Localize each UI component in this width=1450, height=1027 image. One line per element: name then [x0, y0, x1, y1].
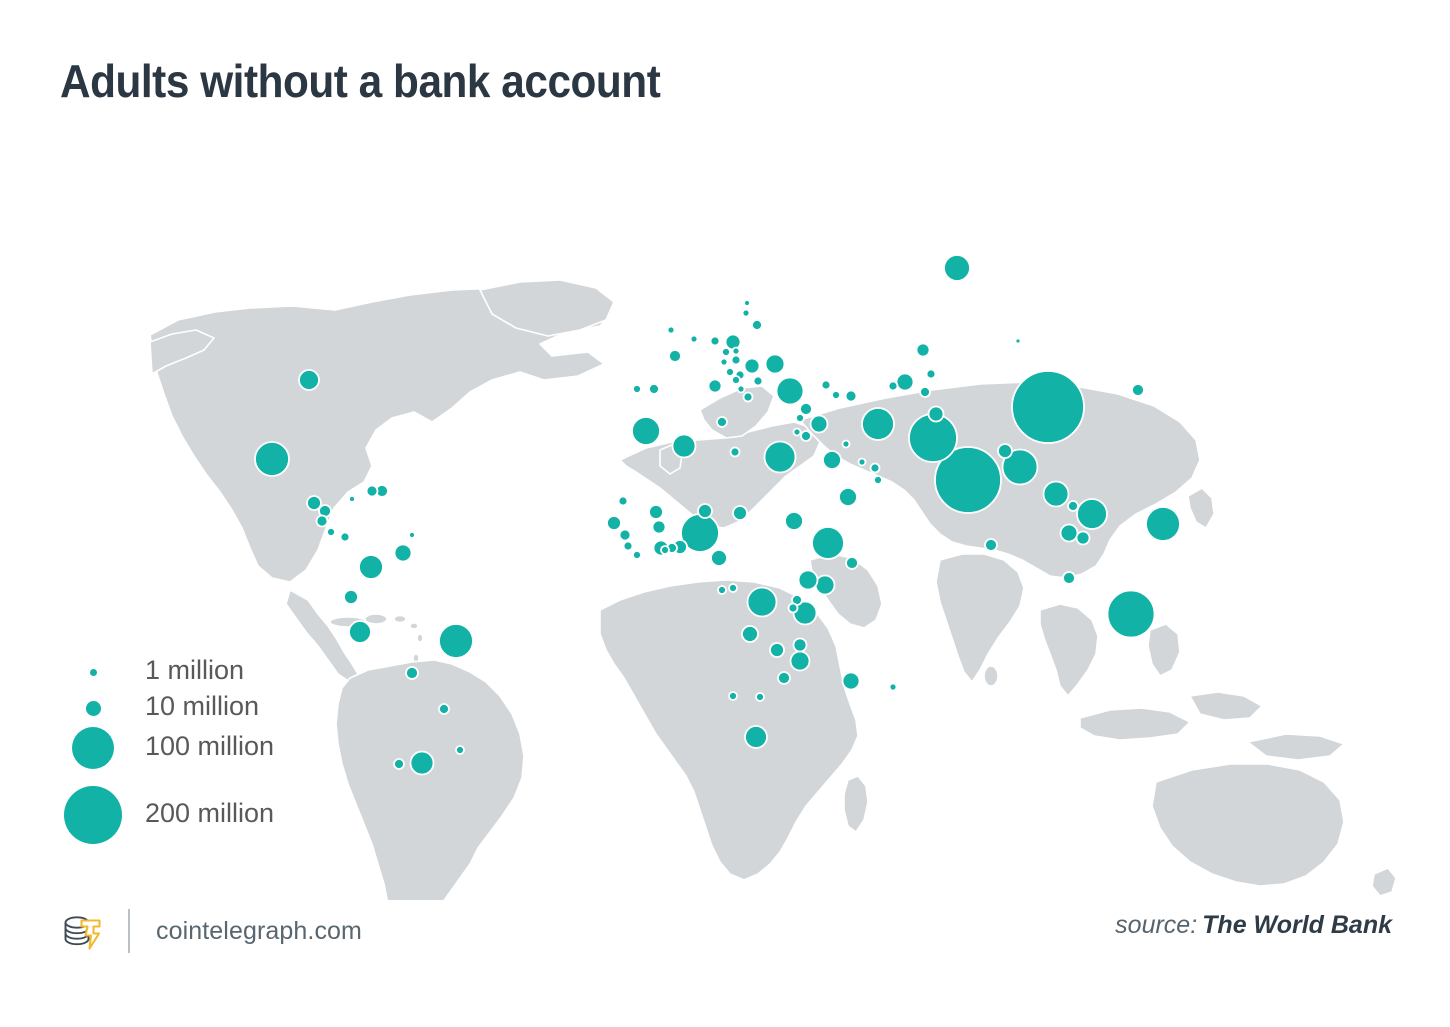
map-bubble[interactable] — [1068, 501, 1078, 511]
map-bubble[interactable] — [843, 673, 860, 690]
legend-bubble — [86, 701, 101, 716]
map-bubble[interactable] — [889, 382, 898, 391]
legend-label: 1 million — [145, 655, 244, 686]
map-bubble[interactable] — [1077, 532, 1090, 545]
map-bubble[interactable] — [785, 512, 803, 530]
map-bubble[interactable] — [733, 348, 740, 355]
map-bubble[interactable] — [998, 444, 1012, 458]
map-bubble[interactable] — [843, 441, 850, 448]
map-bubble[interactable] — [731, 448, 740, 457]
map-bubble[interactable] — [799, 571, 818, 590]
brand-block: cointelegraph.com — [58, 895, 362, 967]
map-bubble[interactable] — [439, 624, 473, 658]
map-bubble[interactable] — [811, 416, 828, 433]
map-bubble[interactable] — [738, 386, 745, 393]
map-bubble[interactable] — [871, 464, 880, 473]
map-bubble[interactable] — [733, 506, 747, 520]
map-bubble[interactable] — [729, 692, 737, 700]
map-bubble[interactable] — [1063, 572, 1075, 584]
legend-label: 200 million — [145, 798, 274, 829]
footer: cointelegraph.com source:The World Bank — [0, 895, 1450, 985]
map-bubble[interactable] — [917, 344, 930, 357]
map-bubble[interactable] — [778, 672, 790, 684]
map-bubble[interactable] — [846, 557, 858, 569]
map-bubble[interactable] — [897, 374, 914, 391]
map-bubble[interactable] — [832, 391, 840, 399]
cointelegraph-logo-icon — [58, 907, 106, 955]
map-bubble[interactable] — [632, 417, 660, 445]
map-bubble[interactable] — [732, 356, 741, 365]
map-bubble[interactable] — [822, 381, 831, 390]
map-bubble[interactable] — [367, 486, 378, 497]
map-bubble[interactable] — [744, 300, 750, 306]
map-bubble[interactable] — [721, 359, 728, 366]
map-bubble[interactable] — [344, 590, 358, 604]
map-bubble[interactable] — [859, 459, 866, 466]
map-bubble[interactable] — [661, 546, 669, 554]
map-bubble[interactable] — [669, 350, 681, 362]
map-bubble[interactable] — [729, 584, 737, 592]
map-bubble[interactable] — [327, 528, 335, 536]
map-bubble[interactable] — [717, 417, 727, 427]
map-bubble[interactable] — [722, 348, 730, 356]
map-bubble[interactable] — [691, 336, 698, 343]
source-attribution: source:The World Bank — [1115, 911, 1392, 940]
map-bubble[interactable] — [766, 355, 785, 374]
legend-label: 10 million — [145, 691, 259, 722]
map-bubble[interactable] — [1108, 591, 1155, 638]
map-bubble[interactable] — [770, 643, 784, 657]
map-bubble[interactable] — [1146, 507, 1180, 541]
map-bubble[interactable] — [796, 414, 804, 422]
map-bubble[interactable] — [927, 370, 936, 379]
map-bubble[interactable] — [1016, 339, 1021, 344]
map-bubble[interactable] — [794, 429, 801, 436]
legend-bubble — [90, 669, 97, 676]
map-bubble[interactable] — [789, 604, 798, 613]
map-bubble[interactable] — [349, 496, 355, 502]
map-bubble[interactable] — [862, 408, 894, 440]
map-bubble[interactable] — [765, 442, 796, 473]
source-value: The World Bank — [1202, 911, 1392, 939]
map-bubble[interactable] — [1061, 525, 1078, 542]
map-bubble[interactable] — [633, 551, 641, 559]
map-bubble[interactable] — [839, 488, 857, 506]
map-bubble[interactable] — [619, 497, 628, 506]
page-title: Adults without a bank account — [60, 52, 660, 110]
map-bubble[interactable] — [633, 385, 641, 393]
map-bubble[interactable] — [439, 704, 449, 714]
map-bubble[interactable] — [607, 516, 621, 530]
map-bubble[interactable] — [777, 378, 804, 405]
map-bubble[interactable] — [406, 667, 418, 679]
source-label: source: — [1115, 911, 1197, 939]
map-bubble[interactable] — [299, 370, 319, 390]
map-bubble[interactable] — [754, 377, 763, 386]
map-bubble[interactable] — [394, 759, 404, 769]
map-bubble[interactable] — [698, 504, 712, 518]
map-bubble[interactable] — [711, 550, 727, 566]
map-bubble[interactable] — [745, 359, 760, 374]
map-bubble[interactable] — [711, 337, 720, 346]
map-bubble[interactable] — [349, 621, 371, 643]
map-bubble[interactable] — [456, 746, 464, 754]
map-bubble[interactable] — [649, 505, 663, 519]
legend-bubble — [64, 786, 122, 844]
map-bubble[interactable] — [411, 752, 434, 775]
map-bubble[interactable] — [743, 310, 750, 317]
map-bubble[interactable] — [794, 639, 807, 652]
map-bubble[interactable] — [624, 542, 633, 551]
brand-url[interactable]: cointelegraph.com — [156, 917, 362, 946]
map-bubble[interactable] — [752, 320, 762, 330]
map-bubble[interactable] — [801, 431, 811, 441]
map-bubble[interactable] — [359, 555, 383, 579]
legend-label: 100 million — [145, 731, 274, 762]
map-bubble[interactable] — [1012, 371, 1084, 443]
map-bubble[interactable] — [409, 532, 415, 538]
map-bubble[interactable] — [874, 476, 882, 484]
map-bubble[interactable] — [732, 376, 740, 384]
map-bubble[interactable] — [745, 726, 767, 748]
map-bubble[interactable] — [742, 626, 758, 642]
map-bubble[interactable] — [255, 442, 289, 476]
map-bubble[interactable] — [1044, 482, 1069, 507]
map-bubble[interactable] — [920, 387, 930, 397]
infographic-page: Adults without a bank account — [0, 0, 1450, 1027]
map-bubble[interactable] — [709, 380, 722, 393]
map-bubble[interactable] — [341, 533, 350, 542]
map-bubble[interactable] — [846, 391, 857, 402]
map-bubble[interactable] — [395, 545, 412, 562]
map-bubble[interactable] — [791, 652, 810, 671]
map-bubble[interactable] — [649, 384, 659, 394]
map-bubble[interactable] — [1132, 384, 1144, 396]
map-bubble[interactable] — [673, 435, 696, 458]
map-bubble[interactable] — [985, 539, 997, 551]
map-bubble[interactable] — [812, 527, 844, 559]
map-bubble[interactable] — [929, 407, 944, 422]
map-bubble[interactable] — [1077, 499, 1107, 529]
brand-divider — [128, 909, 130, 953]
map-bubble[interactable] — [944, 255, 970, 281]
map-bubble[interactable] — [726, 368, 734, 376]
map-bubble[interactable] — [718, 586, 726, 594]
map-bubble[interactable] — [668, 327, 675, 334]
map-bubble[interactable] — [756, 693, 764, 701]
map-bubble[interactable] — [748, 588, 777, 617]
legend-bubble — [72, 727, 114, 769]
map-bubble[interactable] — [653, 521, 666, 534]
map-legend: 1 million10 million100 million200 millio… — [60, 650, 390, 875]
map-bubble[interactable] — [744, 393, 753, 402]
map-bubble[interactable] — [823, 451, 841, 469]
map-bubble[interactable] — [317, 516, 328, 527]
map-bubble[interactable] — [816, 576, 835, 595]
map-bubble[interactable] — [800, 403, 812, 415]
map-bubble[interactable] — [890, 684, 897, 691]
map-bubble[interactable] — [620, 530, 631, 541]
